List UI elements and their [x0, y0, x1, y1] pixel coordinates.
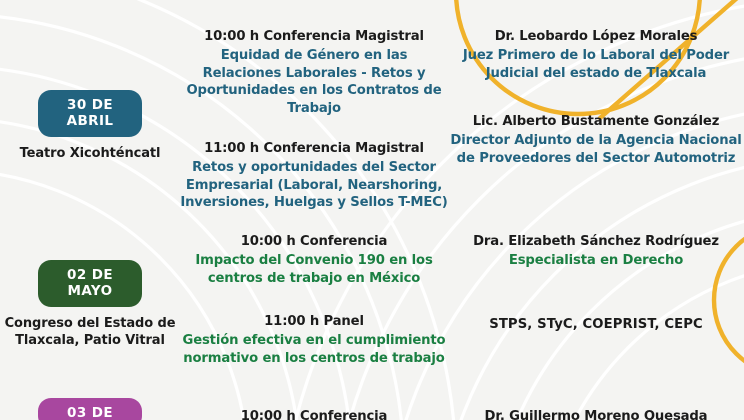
day-date-column: 30 DE ABRIL Teatro Xicohténcatl	[0, 28, 180, 163]
speaker-block: Dr. Leobardo López Morales Juez Primero …	[448, 28, 744, 82]
slot: 10:00 h Conferencia	[180, 408, 448, 420]
slot: 10:00 h Conferencia Impacto del Convenio…	[180, 233, 448, 287]
date-badge-line1: 03 DE	[38, 405, 142, 420]
day-speakers-column: Dra. Elizabeth Sánchez Rodríguez Especia…	[448, 233, 744, 333]
date-badge: 02 DE MAYO	[38, 260, 142, 307]
speaker-name: Lic. Alberto Bustamente González	[448, 113, 744, 130]
day-topics-column: 10:00 h Conferencia	[180, 398, 448, 420]
date-badge: 30 DE ABRIL	[38, 90, 142, 137]
venue-label: Teatro Xicohténcatl	[20, 146, 161, 163]
slot-title: Gestión efectiva en el cumplimiento norm…	[180, 332, 448, 367]
day-date-column: 03 DE	[0, 398, 180, 420]
speaker-name: Dra. Elizabeth Sánchez Rodríguez	[448, 233, 744, 250]
day-speakers-column: Dr. Guillermo Moreno Quesada	[448, 398, 744, 420]
day-row: 30 DE ABRIL Teatro Xicohténcatl 10:00 h …	[0, 28, 744, 212]
speaker-name: Dr. Guillermo Moreno Quesada	[448, 408, 744, 420]
date-badge-line2: MAYO	[38, 283, 142, 299]
date-badge-line2: ABRIL	[38, 113, 142, 129]
slot-time: 10:00 h Conferencia Magistral	[180, 28, 448, 45]
speaker-role: Juez Primero de lo Laboral del Poder Jud…	[448, 47, 744, 82]
date-badge-line1: 02 DE	[38, 267, 142, 283]
slot: 11:00 h Conferencia Magistral Retos y op…	[180, 140, 448, 212]
slot-time: 10:00 h Conferencia	[180, 408, 448, 420]
day-topics-column: 10:00 h Conferencia Impacto del Convenio…	[180, 233, 448, 367]
date-badge-line1: 30 DE	[38, 97, 142, 113]
slot-time: 11:00 h Conferencia Magistral	[180, 140, 448, 157]
program-content: 30 DE ABRIL Teatro Xicohténcatl 10:00 h …	[0, 0, 744, 420]
day-row: 03 DE 10:00 h Conferencia Dr. Guillermo …	[0, 398, 744, 420]
day-topics-column: 10:00 h Conferencia Magistral Equidad de…	[180, 28, 448, 212]
speaker-block: Dr. Guillermo Moreno Quesada	[448, 408, 744, 420]
slot: 10:00 h Conferencia Magistral Equidad de…	[180, 28, 448, 117]
venue-label: Congreso del Estado de Tlaxcala, Patio V…	[0, 316, 180, 349]
day-row: 02 DE MAYO Congreso del Estado de Tlaxca…	[0, 233, 744, 367]
day-speakers-column: Dr. Leobardo López Morales Juez Primero …	[448, 28, 744, 167]
speaker-block: Dra. Elizabeth Sánchez Rodríguez Especia…	[448, 233, 744, 270]
date-badge: 03 DE	[38, 398, 142, 420]
speaker-block: Lic. Alberto Bustamente González Directo…	[448, 113, 744, 167]
speaker-organizations: STPS, STyC, COEPRIST, CEPC	[448, 316, 744, 333]
day-date-column: 02 DE MAYO Congreso del Estado de Tlaxca…	[0, 233, 180, 349]
slot-title: Retos y oportunidades del Sector Empresa…	[180, 159, 448, 212]
slot-title: Equidad de Género en las Relaciones Labo…	[180, 47, 448, 117]
speaker-name: Dr. Leobardo López Morales	[448, 28, 744, 45]
slot-time: 10:00 h Conferencia	[180, 233, 448, 250]
program-poster: 30 DE ABRIL Teatro Xicohténcatl 10:00 h …	[0, 0, 744, 420]
slot-title: Impacto del Convenio 190 en los centros …	[180, 252, 448, 287]
speaker-block: STPS, STyC, COEPRIST, CEPC	[448, 316, 744, 333]
slot-time: 11:00 h Panel	[180, 313, 448, 330]
speaker-role: Director Adjunto de la Agencia Nacional …	[448, 132, 744, 167]
slot: 11:00 h Panel Gestión efectiva en el cum…	[180, 313, 448, 367]
speaker-role: Especialista en Derecho	[448, 252, 744, 270]
